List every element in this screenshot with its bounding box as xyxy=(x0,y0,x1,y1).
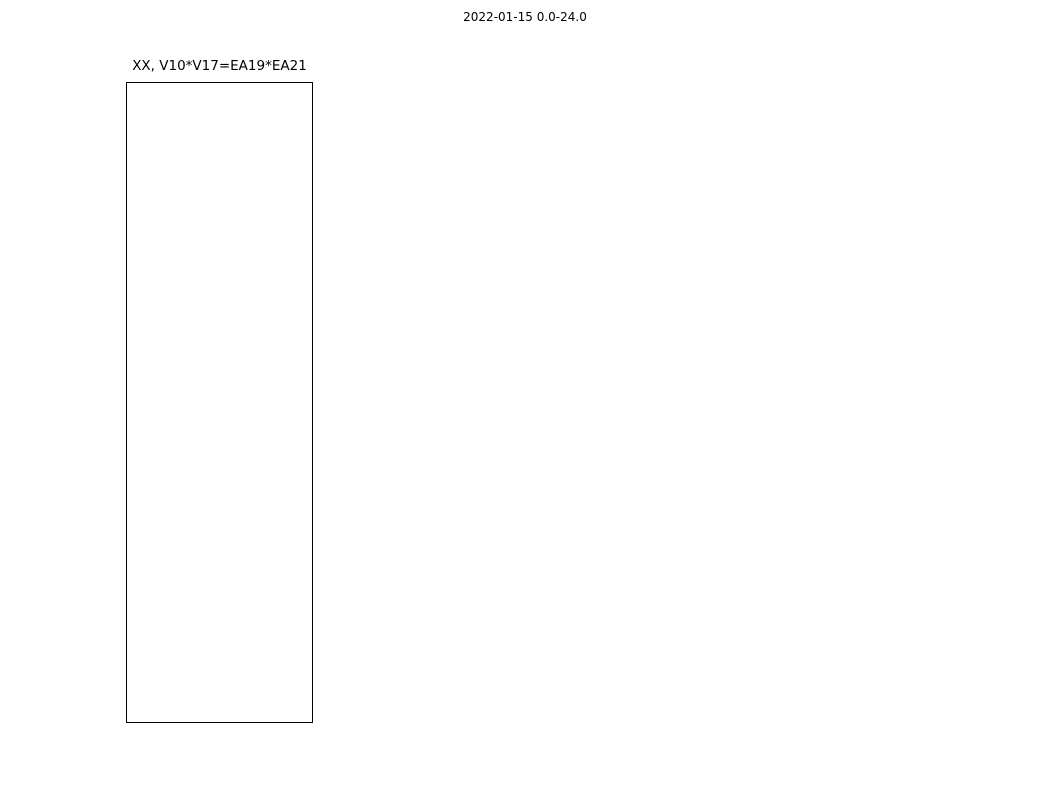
waterfall-image-xx xyxy=(127,83,312,722)
figure-suptitle: 2022-01-15 0.0-24.0 xyxy=(0,10,1050,24)
figure-canvas: 2022-01-15 0.0-24.0 XX, V10*V17=EA19*EA2… xyxy=(0,0,1050,800)
panel-title-xx: XX, V10*V17=EA19*EA21 xyxy=(126,58,313,74)
dynamic-spectrum-xx[interactable] xyxy=(126,82,313,723)
